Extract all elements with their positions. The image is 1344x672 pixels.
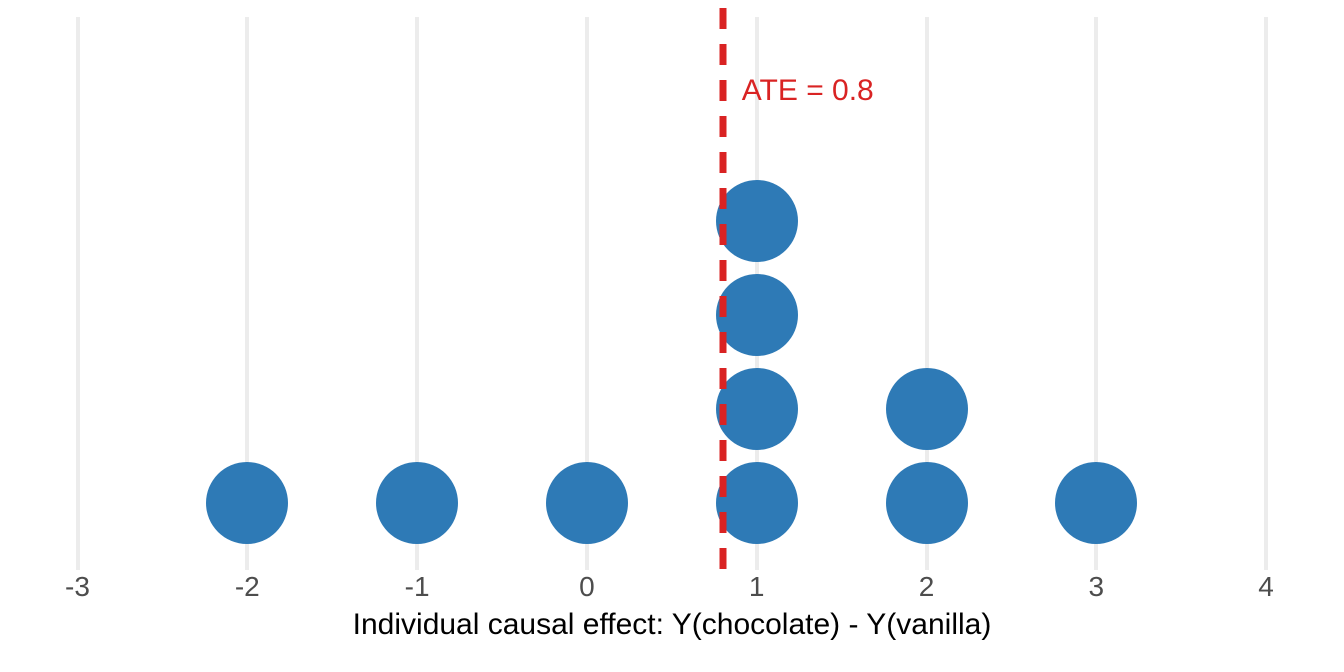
data-point [716, 462, 798, 544]
x-tick-label: 1 [749, 572, 765, 602]
ate-annotation-label: ATE = 0.8 [742, 76, 874, 106]
x-axis: -3-2-101234 Individual causal effect: Y(… [0, 572, 1344, 672]
data-point [1055, 462, 1137, 544]
x-tick-label: -2 [235, 572, 260, 602]
gridline [1264, 17, 1268, 570]
data-point [886, 462, 968, 544]
data-point [376, 462, 458, 544]
x-tick-label: 4 [1258, 572, 1274, 602]
data-point [716, 368, 798, 450]
x-axis-title: Individual causal effect: Y(chocolate) -… [0, 608, 1344, 642]
data-point [716, 274, 798, 356]
data-point [886, 368, 968, 450]
x-tick-label: 2 [919, 572, 935, 602]
dotplot-figure: ATE = 0.8 -3-2-101234 Individual causal … [0, 0, 1344, 672]
x-tick-label: 0 [579, 572, 595, 602]
data-point [716, 180, 798, 262]
x-tick-label: -1 [405, 572, 430, 602]
x-tick-label: 3 [1089, 572, 1105, 602]
gridline [76, 17, 80, 570]
x-tick-label: -3 [65, 572, 90, 602]
ate-reference-line [719, 8, 726, 572]
data-point [206, 462, 288, 544]
plot-area: ATE = 0.8 [0, 0, 1344, 572]
data-point [546, 462, 628, 544]
